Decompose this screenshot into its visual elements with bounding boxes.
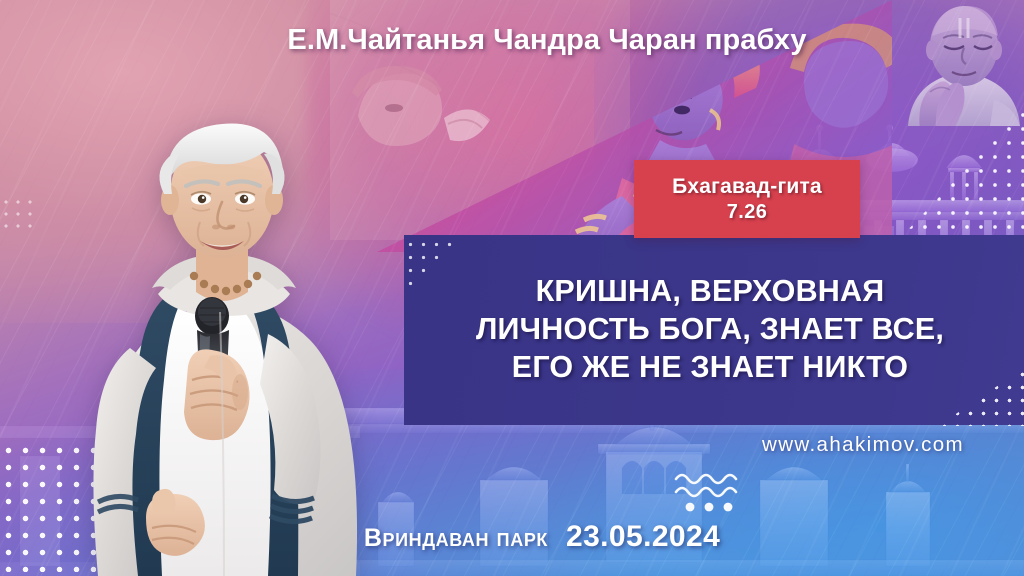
scripture-name: Бхагавад-гита xyxy=(672,175,822,199)
event-date: 23.05.2024 xyxy=(566,520,720,554)
speaker-portrait xyxy=(60,98,390,576)
website-url[interactable]: www.ahakimov.com xyxy=(762,433,964,457)
footer: Вриндаван парк 23.05.2024 xyxy=(0,520,1024,554)
quote-line-1: КРИШНА, ВЕРХОВНАЯ xyxy=(536,274,885,310)
page-title: Е.М.Чайтанья Чандра Чаран прабху xyxy=(0,24,1024,57)
scripture-badge: Бхагавад-гита 7.26 xyxy=(634,160,860,238)
quote-line-3: ЕГО ЖЕ НЕ ЗНАЕТ НИКТО xyxy=(512,350,908,386)
event-place: Вриндаван парк xyxy=(364,524,548,553)
wave-ornament-icon xyxy=(672,470,746,514)
scripture-verse: 7.26 xyxy=(727,201,768,224)
quote-text: КРИШНА, ВЕРХОВНАЯ ЛИЧНОСТЬ БОГА, ЗНАЕТ В… xyxy=(404,244,1016,416)
event-poster: Е.М.Чайтанья Чандра Чаран прабху КРИШНА,… xyxy=(0,0,1024,576)
quote-line-2: ЛИЧНОСТЬ БОГА, ЗНАЕТ ВСЕ, xyxy=(476,312,944,348)
